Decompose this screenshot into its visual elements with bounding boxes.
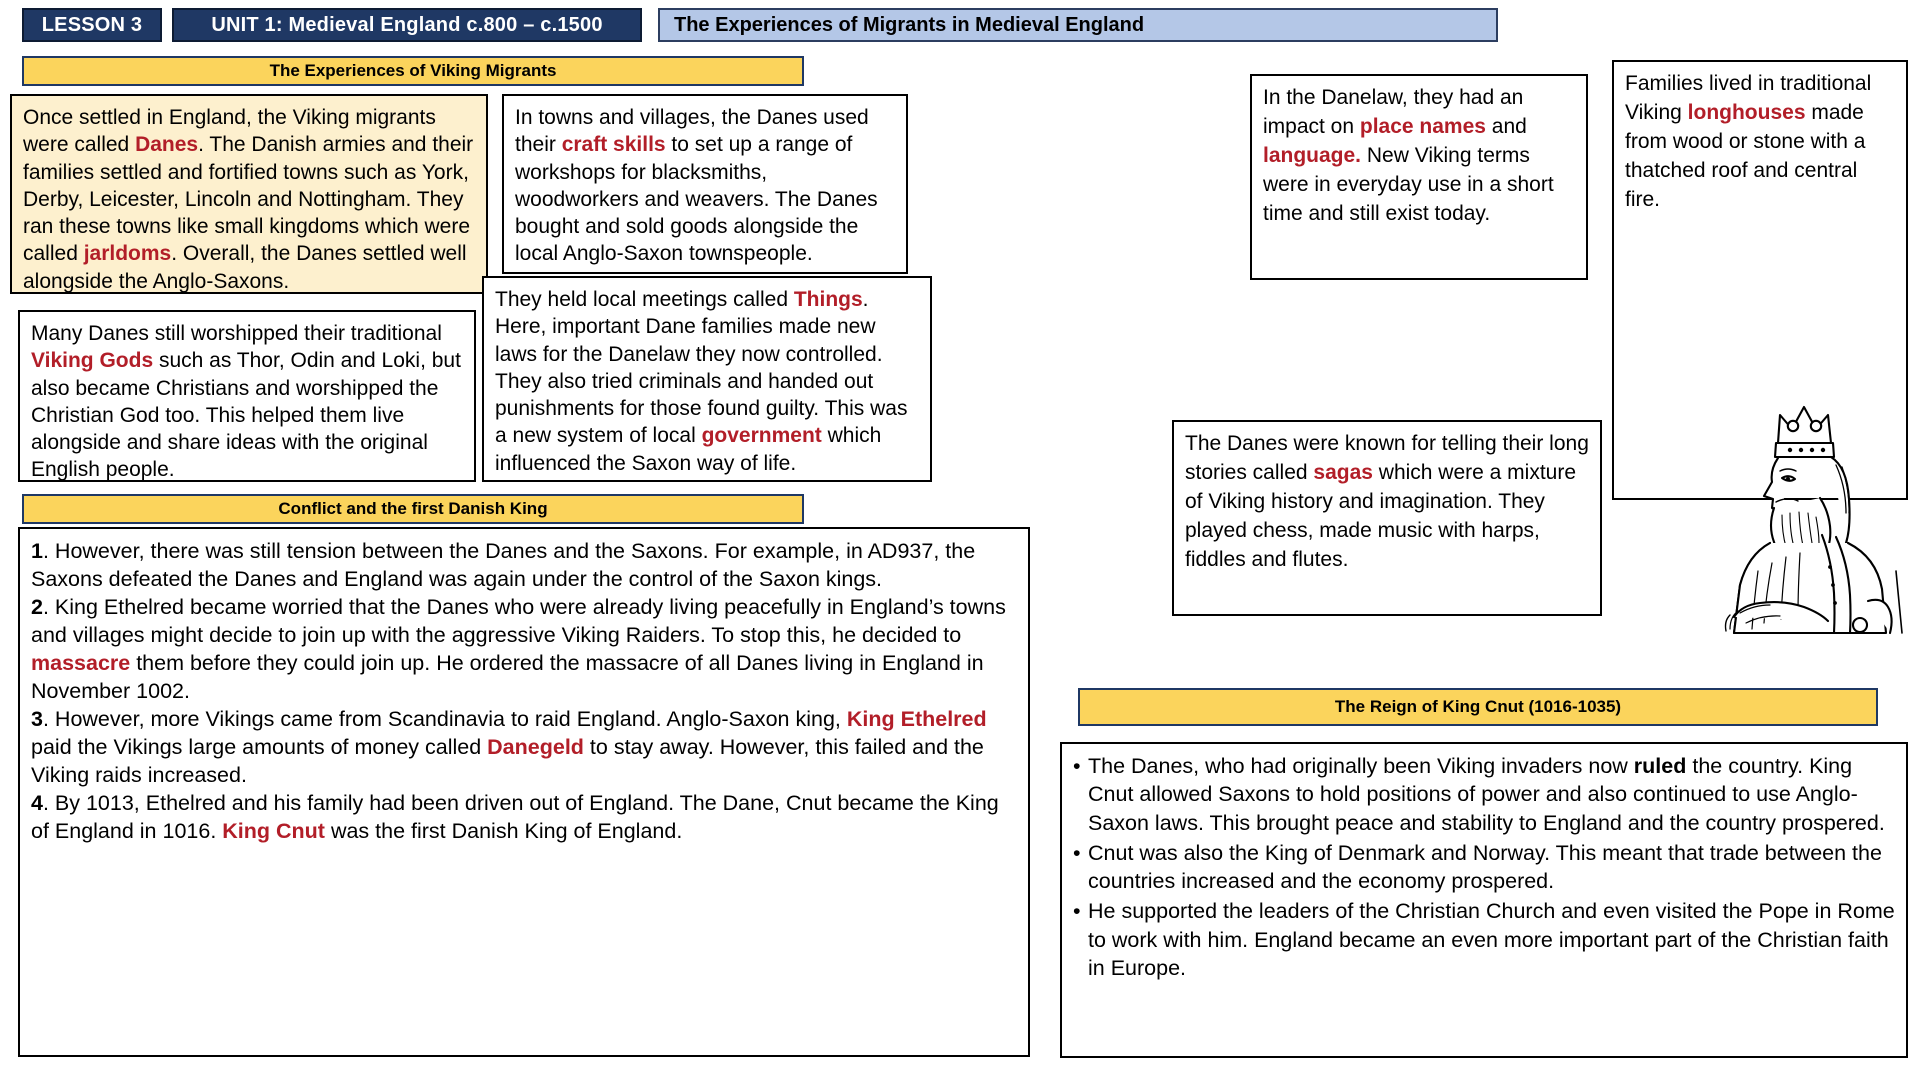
keyword-danes: Danes (135, 133, 198, 156)
conflict-item-3-p1: . However, more Vikings came from Scandi… (43, 707, 847, 731)
section-header-conflict-label: Conflict and the first Danish King (278, 499, 547, 519)
textbox-sagas-p3: fiddles and flutes. (1185, 548, 1348, 571)
keyword-language: language. (1263, 144, 1361, 167)
textbox-craft-skills: In towns and villages, the Danes used th… (502, 94, 908, 274)
conflict-item-3: 3. However, more Vikings came from Scand… (31, 705, 1018, 789)
textbox-things: They held local meetings called Things. … (482, 276, 932, 482)
keyword-king-cnut: King Cnut (222, 819, 325, 843)
textbox-longhouses: Families lived in traditional Viking lon… (1612, 60, 1908, 500)
keyword-sagas: sagas (1313, 461, 1373, 484)
section-header-king-cnut: The Reign of King Cnut (1016-1035) (1078, 688, 1878, 726)
keyword-craft-skills: craft skills (562, 133, 666, 156)
section-header-conflict: Conflict and the first Danish King (22, 494, 804, 524)
conflict-item-2-number: 2 (31, 595, 43, 619)
worksheet-page: LESSON 3 UNIT 1: Medieval England c.800 … (0, 0, 1920, 1080)
unit-badge: UNIT 1: Medieval England c.800 – c.1500 (172, 8, 642, 42)
conflict-item-4-number: 4 (31, 791, 43, 815)
keyword-things: Things (794, 288, 863, 311)
textbox-viking-gods: Many Danes still worshipped their tradit… (18, 310, 476, 482)
cnut-bullet-2: Cnut was also the King of Denmark and No… (1073, 839, 1896, 896)
keyword-danegeld: Danegeld (487, 735, 584, 759)
conflict-item-1: 1. However, there was still tension betw… (31, 537, 1018, 593)
keyword-jarldoms: jarldoms (84, 242, 172, 265)
keyword-viking-gods: Viking Gods (31, 349, 153, 372)
section-header-viking-migrants: The Experiences of Viking Migrants (22, 56, 804, 86)
keyword-ruled: ruled (1634, 754, 1687, 778)
conflict-item-4: 4. By 1013, Ethelred and his family had … (31, 789, 1018, 845)
keyword-longhouses: longhouses (1688, 101, 1806, 124)
cnut-bullet-3-p1: He supported the leaders of the Christia… (1088, 899, 1895, 980)
page-title-label: The Experiences of Migrants in Medieval … (674, 14, 1144, 37)
unit-badge-label: UNIT 1: Medieval England c.800 – c.1500 (211, 14, 602, 37)
textbox-conflict-list: 1. However, there was still tension betw… (18, 527, 1030, 1057)
textbox-danes-settled: Once settled in England, the Viking migr… (10, 94, 488, 294)
conflict-item-3-number: 3 (31, 707, 43, 731)
keyword-king-ethelred: King Ethelred (847, 707, 987, 731)
textbox-cnut-bullets: The Danes, who had originally been Vikin… (1060, 742, 1908, 1058)
conflict-item-2-p2: them before they could join up. He order… (31, 651, 984, 703)
page-title: The Experiences of Migrants in Medieval … (658, 8, 1498, 42)
conflict-item-2-p1: . King Ethelred became worried that the … (31, 595, 1006, 647)
conflict-item-3-p2: paid the Vikings large amounts of money … (31, 735, 487, 759)
conflict-item-4-p2: was the first Danish King of England. (325, 819, 682, 843)
section-header-viking-migrants-label: The Experiences of Viking Migrants (270, 61, 557, 81)
textbox-things-p1: They held local meetings called (495, 288, 794, 311)
lesson-badge: LESSON 3 (22, 8, 162, 42)
cnut-bullet-1-p1: The Danes, who had originally been Vikin… (1088, 754, 1634, 778)
keyword-place-names: place names (1360, 115, 1486, 138)
textbox-danelaw-p2: and (1486, 115, 1527, 138)
textbox-sagas: The Danes were known for telling their l… (1172, 420, 1602, 616)
lesson-badge-label: LESSON 3 (42, 14, 143, 37)
keyword-government: government (702, 424, 822, 447)
section-header-king-cnut-label: The Reign of King Cnut (1016-1035) (1335, 697, 1621, 717)
textbox-danelaw: In the Danelaw, they had an impact on pl… (1250, 74, 1588, 280)
cnut-bullet-3: He supported the leaders of the Christia… (1073, 897, 1896, 982)
textbox-viking-gods-p1: Many Danes still worshipped their tradit… (31, 322, 442, 345)
conflict-item-1-number: 1 (31, 539, 43, 563)
cnut-bullet-1: The Danes, who had originally been Vikin… (1073, 752, 1896, 837)
conflict-item-2: 2. King Ethelred became worried that the… (31, 593, 1018, 705)
keyword-massacre: massacre (31, 651, 130, 675)
cnut-bullet-2-p1: Cnut was also the King of Denmark and No… (1088, 841, 1882, 893)
conflict-item-1-p1: . However, there was still tension betwe… (31, 539, 975, 591)
